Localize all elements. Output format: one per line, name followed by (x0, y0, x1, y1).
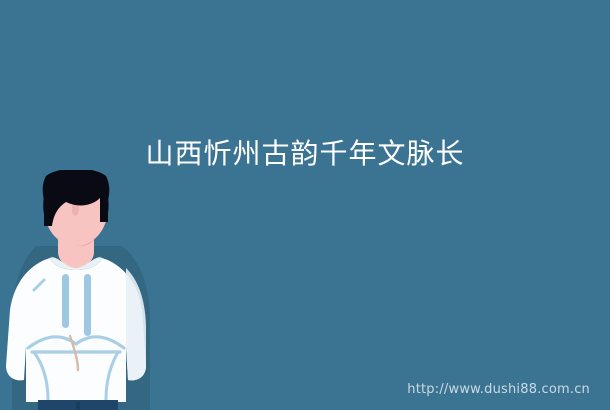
person-illustration (0, 170, 180, 410)
watermark-url: http://www.dushi88.com.cn (407, 382, 590, 397)
banner-canvas: 山西忻州古韵千年文脉长 (0, 0, 610, 410)
page-title: 山西忻州古韵千年文脉长 (0, 136, 610, 172)
